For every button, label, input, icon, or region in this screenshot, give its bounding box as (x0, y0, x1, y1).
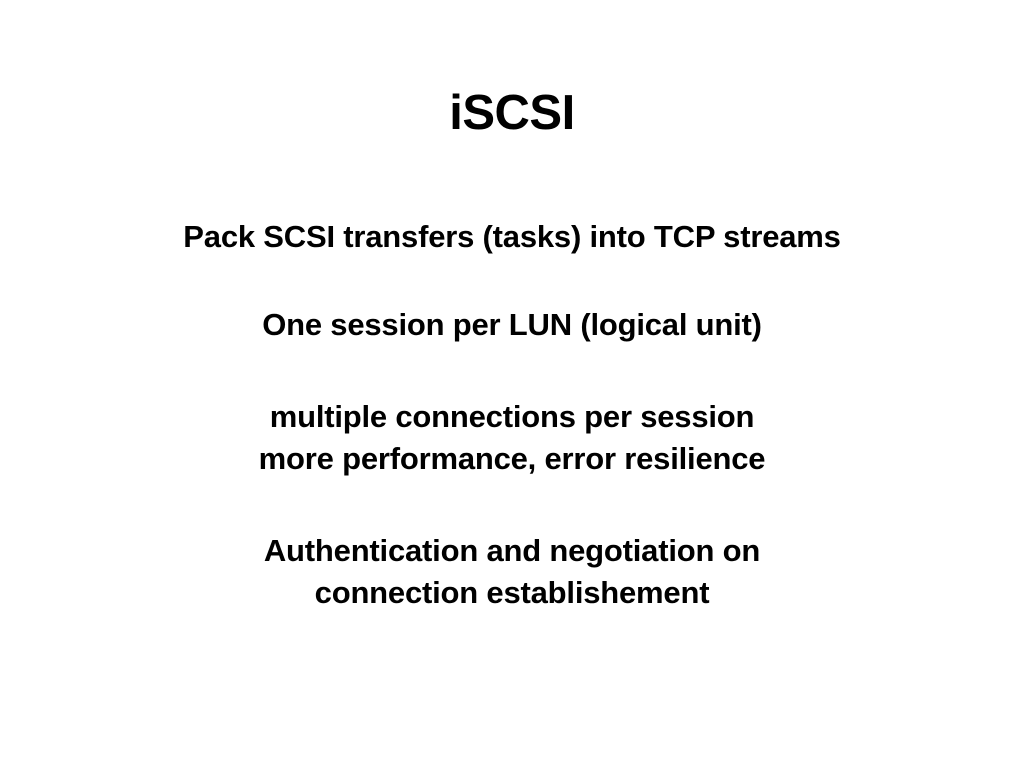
paragraph-line: more performance, error resilience (0, 438, 1024, 480)
paragraph-line: Pack SCSI transfers (tasks) into TCP str… (0, 216, 1024, 258)
page-title: iSCSI (0, 88, 1024, 139)
paragraph-line: Authentication and negotiation on (0, 530, 1024, 572)
slide-paragraph-1: Pack SCSI transfers (tasks) into TCP str… (0, 216, 1024, 258)
slide-paragraph-3: multiple connections per session more pe… (0, 396, 1024, 480)
paragraph-line: multiple connections per session (0, 396, 1024, 438)
paragraph-line: One session per LUN (logical unit) (0, 304, 1024, 346)
slide-paragraph-2: One session per LUN (logical unit) (0, 304, 1024, 346)
paragraph-line: connection establishement (0, 572, 1024, 614)
slide-paragraph-4: Authentication and negotiation on connec… (0, 530, 1024, 614)
slide-canvas: iSCSI Pack SCSI transfers (tasks) into T… (0, 0, 1024, 768)
